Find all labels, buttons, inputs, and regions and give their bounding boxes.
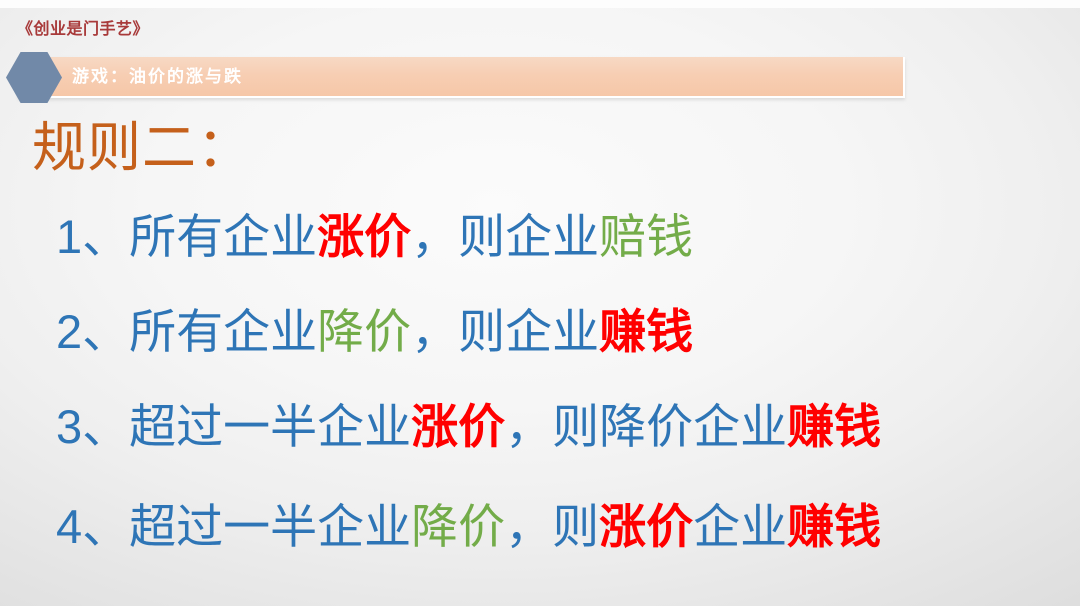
rule-segment: 1、所有企业 xyxy=(56,210,317,263)
rule-segment: 降价 xyxy=(411,500,505,553)
rule-segment: 企业 xyxy=(693,500,787,553)
section-banner-label: 游戏：油价的涨与跌 xyxy=(72,57,243,98)
rule-segment: 涨价 xyxy=(317,210,411,263)
section-banner: 游戏：油价的涨与跌 xyxy=(0,57,905,98)
rule-segment: 涨价 xyxy=(411,400,505,453)
rule-segment: ，则降价企业 xyxy=(505,400,787,453)
deck-title: 《创业是门手艺》 xyxy=(17,15,149,39)
slide-canvas: 《创业是门手艺》 游戏：油价的涨与跌 规则二： 1、所有企业涨价，则企业赔钱 2… xyxy=(0,0,1080,606)
rule-segment: ，则企业 xyxy=(411,305,599,358)
rule-line: 1、所有企业涨价，则企业赔钱 xyxy=(56,209,693,265)
rule-segment: 赔钱 xyxy=(599,210,693,263)
rule-segment: 赚钱 xyxy=(787,400,881,453)
rule-segment: ，则企业 xyxy=(411,210,599,263)
rule-segment: 3、超过一半企业 xyxy=(56,400,411,453)
rule-segment: 4、超过一半企业 xyxy=(56,500,411,553)
rule-line: 2、所有企业降价，则企业赚钱 xyxy=(56,304,693,360)
rule-segment: 涨价 xyxy=(599,500,693,553)
rule-segment: 降价 xyxy=(317,305,411,358)
rule-segment: 赚钱 xyxy=(599,305,693,358)
rule-segment: ，则 xyxy=(505,500,599,553)
page-title: 规则二： xyxy=(32,118,252,178)
rule-line: 3、超过一半企业涨价，则降价企业赚钱 xyxy=(56,399,881,455)
rule-segment: 赚钱 xyxy=(787,500,881,553)
rule-segment: 2、所有企业 xyxy=(56,305,317,358)
rule-line: 4、超过一半企业降价，则涨价企业赚钱 xyxy=(56,499,881,555)
top-strip xyxy=(0,0,1080,8)
